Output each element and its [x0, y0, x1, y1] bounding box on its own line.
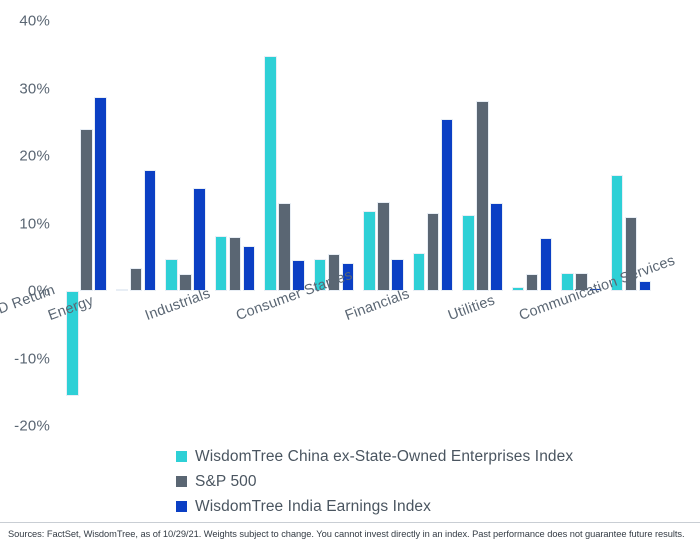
bar[interactable] [441, 119, 454, 291]
bar[interactable] [130, 268, 143, 291]
legend-item[interactable]: S&P 500 [176, 469, 616, 494]
bar[interactable] [144, 170, 157, 292]
bar[interactable] [363, 211, 376, 291]
bar[interactable] [193, 188, 206, 291]
bar[interactable] [391, 259, 404, 291]
legend-item[interactable]: WisdomTree India Earnings Index [176, 494, 616, 519]
bar-group [512, 21, 553, 426]
y-axis-tick-label: 20% [19, 148, 50, 165]
bar-group [116, 21, 157, 426]
legend-item[interactable]: WisdomTree China ex-State-Owned Enterpri… [176, 444, 616, 469]
bar[interactable] [215, 236, 228, 291]
bar[interactable] [243, 246, 256, 291]
bar[interactable] [490, 203, 503, 291]
bar-group [215, 21, 256, 426]
bar-group [660, 21, 700, 426]
bar[interactable] [264, 56, 277, 291]
chart-page: 40%30%20%10%0%-10%-20% YTD ReturnEnergyI… [0, 0, 700, 547]
chart-legend: WisdomTree China ex-State-Owned Enterpri… [176, 444, 616, 519]
bar-group [363, 21, 404, 426]
legend-item-label: S&P 500 [195, 473, 257, 491]
plot-area [56, 21, 700, 426]
bar[interactable] [512, 287, 525, 291]
y-axis-tick-label: 30% [19, 80, 50, 97]
bar[interactable] [639, 281, 652, 291]
y-axis: 40%30%20%10%0%-10%-20% [0, 21, 50, 426]
bar[interactable] [94, 97, 107, 291]
y-axis-tick-label: -10% [14, 350, 50, 367]
legend-item-label: WisdomTree China ex-State-Owned Enterpri… [195, 448, 573, 466]
bar[interactable] [179, 274, 192, 291]
bar[interactable] [462, 215, 475, 291]
y-axis-tick-label: -20% [14, 418, 50, 435]
y-axis-tick-label: 40% [19, 13, 50, 30]
bar-series-layer [56, 21, 700, 426]
bar[interactable] [526, 274, 539, 291]
bar-group [413, 21, 454, 426]
bar-group [561, 21, 602, 426]
legend-swatch-icon [176, 476, 187, 487]
bar[interactable] [476, 101, 489, 291]
bar[interactable] [377, 202, 390, 291]
legend-swatch-icon [176, 501, 187, 512]
bar[interactable] [278, 203, 291, 291]
bar[interactable] [229, 237, 242, 291]
bar[interactable] [540, 238, 553, 291]
legend-item-label: WisdomTree India Earnings Index [195, 498, 431, 516]
bar[interactable] [413, 253, 426, 291]
bar-group [165, 21, 206, 426]
bar[interactable] [80, 129, 93, 291]
bar-group [314, 21, 355, 426]
bar-group [611, 21, 652, 426]
bar[interactable] [427, 213, 440, 291]
bar-group [264, 21, 305, 426]
bar[interactable] [116, 289, 129, 291]
legend-swatch-icon [176, 451, 187, 462]
bar[interactable] [165, 259, 178, 291]
footer-divider [0, 522, 700, 523]
source-note: Sources: FactSet, WisdomTree, as of 10/2… [8, 529, 698, 539]
bar-group [66, 21, 107, 426]
bar-group [462, 21, 503, 426]
y-axis-tick-label: 10% [19, 215, 50, 232]
